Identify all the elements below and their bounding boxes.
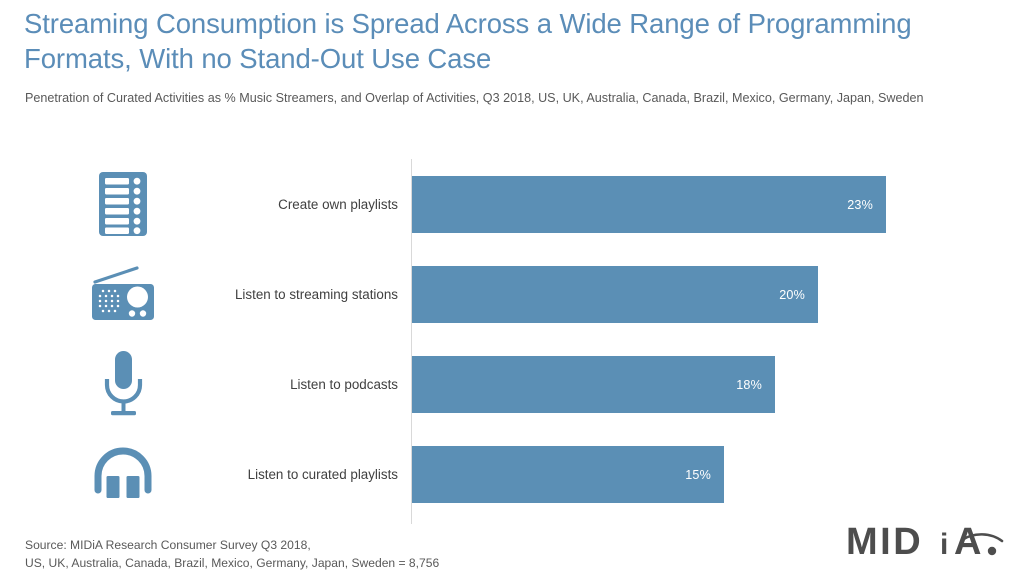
- page-subtitle: Penetration of Curated Activities as % M…: [25, 90, 955, 108]
- chart-row: Listen to podcasts 18%: [0, 339, 1024, 429]
- bar-segment: 15%: [412, 446, 724, 503]
- source-note: Source: MIDiA Research Consumer Survey Q…: [25, 536, 625, 572]
- bar-segment: 20%: [412, 266, 818, 323]
- radio-icon: [78, 249, 168, 339]
- svg-text:i: i: [940, 528, 948, 561]
- microphone-icon: [78, 339, 168, 429]
- category-label: Create own playlists: [180, 159, 398, 249]
- category-label: Listen to podcasts: [180, 339, 398, 429]
- bar-segment: 23%: [412, 176, 886, 233]
- category-label: Listen to streaming stations: [180, 249, 398, 339]
- bar-value-label: 18%: [736, 378, 762, 392]
- chart-row: Listen to streaming stations 20%: [0, 249, 1024, 339]
- footer-divider: [0, 524, 513, 525]
- midia-logo: MID i A: [844, 510, 1006, 562]
- bar-value-label: 15%: [685, 468, 711, 482]
- category-label: Listen to curated playlists: [180, 429, 398, 519]
- svg-text:MID: MID: [846, 521, 923, 562]
- bar-segment: 18%: [412, 356, 775, 413]
- chart-row: Listen to curated playlists 15%: [0, 429, 1024, 519]
- chart-row: Create own playlists 23%: [0, 159, 1024, 249]
- source-line-1: Source: MIDiA Research Consumer Survey Q…: [25, 536, 625, 554]
- bar-chart: Create own playlists 23%: [0, 150, 1024, 530]
- svg-text:A: A: [954, 521, 981, 562]
- bar-value-label: 20%: [779, 288, 805, 302]
- slide-root: Streaming Consumption is Spread Across a…: [0, 0, 1024, 576]
- page-title: Streaming Consumption is Spread Across a…: [24, 6, 924, 76]
- playlist-icon: [78, 159, 168, 249]
- headphones-icon: [78, 429, 168, 519]
- bar-value-label: 23%: [847, 198, 873, 212]
- source-line-2: US, UK, Australia, Canada, Brazil, Mexic…: [25, 554, 625, 572]
